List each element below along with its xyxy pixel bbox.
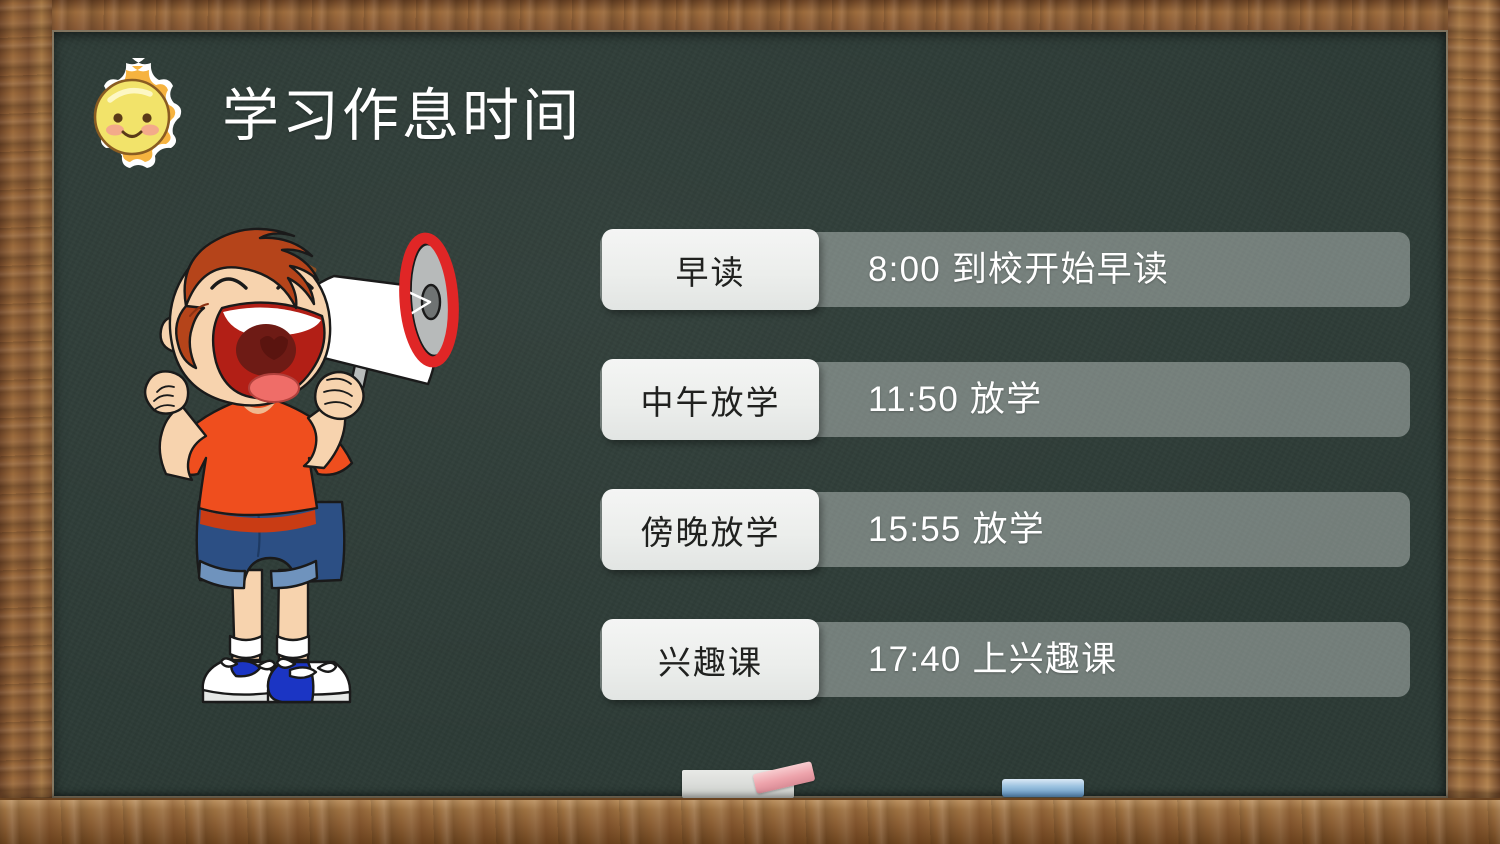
schedule-detail-text: 8:00 到校开始早读 <box>868 252 1169 287</box>
schedule-list: 8:00 到校开始早读 早读 11:50 放学 中午放学 15:55 放学 傍晚… <box>600 232 1410 697</box>
schedule-label-pill[interactable]: 早读 <box>602 229 819 310</box>
chalkboard: 学习作息时间 <box>52 30 1448 798</box>
frame-bottom-ledge <box>0 798 1500 844</box>
sun-icon <box>66 52 198 180</box>
schedule-detail-text: 11:50 放学 <box>868 382 1042 417</box>
schedule-label-pill[interactable]: 中午放学 <box>602 359 819 440</box>
schedule-detail-text: 17:40 上兴趣课 <box>868 642 1117 677</box>
frame-left-rail <box>0 0 52 844</box>
boy-with-megaphone-illustration <box>82 220 512 710</box>
slide-header: 学习作息时间 <box>66 52 582 180</box>
schedule-row[interactable]: 11:50 放学 中午放学 <box>600 362 1410 437</box>
schedule-label-pill[interactable]: 兴趣课 <box>602 619 819 700</box>
page-title: 学习作息时间 <box>222 88 582 145</box>
schedule-row[interactable]: 15:55 放学 傍晚放学 <box>600 492 1410 567</box>
slide-canvas: 学习作息时间 <box>0 0 1500 844</box>
schedule-label-pill[interactable]: 傍晚放学 <box>602 489 819 570</box>
frame-top-rail <box>0 0 1500 30</box>
schedule-row[interactable]: 8:00 到校开始早读 早读 <box>600 232 1410 307</box>
schedule-row[interactable]: 17:40 上兴趣课 兴趣课 <box>600 622 1410 697</box>
frame-right-rail <box>1448 0 1500 844</box>
schedule-detail-text: 15:55 放学 <box>868 512 1045 547</box>
blue-chalk-icon[interactable] <box>1002 779 1084 797</box>
